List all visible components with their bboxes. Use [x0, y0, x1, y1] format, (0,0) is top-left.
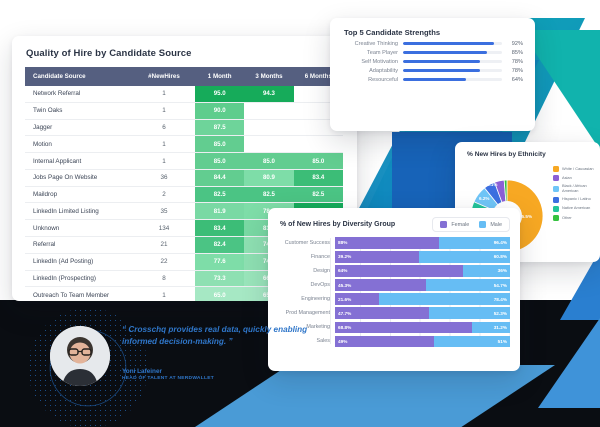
cell-source: Maildrop: [25, 186, 133, 203]
female-segment[interactable]: 64%: [335, 265, 463, 277]
cell-1-month: 87.5: [195, 119, 244, 136]
legend-item[interactable]: Female: [440, 221, 469, 228]
cell-source: Unknown: [25, 220, 133, 237]
cell-1-month: 81.9: [195, 203, 244, 220]
legend-swatch: [553, 186, 559, 192]
male-segment[interactable]: 60.8%: [419, 251, 510, 263]
cell-new-hires: 1: [133, 287, 195, 301]
legend-swatch: [553, 215, 559, 221]
cell-source: LinkedIn (Ad Posting): [25, 253, 133, 270]
legend-label: Asian: [562, 176, 600, 180]
col-new-hires[interactable]: #NewHires: [133, 67, 195, 86]
male-segment[interactable]: 78.4%: [379, 293, 510, 305]
female-value: 39.2%: [338, 254, 351, 259]
avatar: [50, 326, 110, 386]
cell-3-months: 80.9: [244, 169, 293, 186]
table-title: Quality of Hire by Candidate Source: [12, 36, 357, 67]
cell-3-months: 94.3: [244, 86, 293, 102]
strength-fill: [403, 60, 480, 64]
cell-3-months: 85.0: [244, 153, 293, 170]
cell-1-month: 73.3: [195, 270, 244, 287]
male-value: 60.8%: [494, 254, 507, 259]
legend-label: Female: [451, 222, 469, 228]
ethnicity-legend: White / CaucasianAsianBlack / African Am…: [553, 160, 600, 250]
cell-source: Jobs Page On Website: [25, 169, 133, 186]
female-segment[interactable]: 45.3%: [335, 279, 426, 291]
testimonial-quote: “ Crosschq provides real data, quickly e…: [122, 324, 322, 348]
female-segment[interactable]: 47.7%: [335, 307, 429, 319]
diversity-category: Engineering: [274, 296, 330, 302]
legend-label: White / Caucasian: [562, 167, 600, 171]
legend-swatch: [479, 221, 486, 228]
diversity-category: DevOps: [274, 282, 330, 288]
cell-new-hires: 1: [133, 153, 195, 170]
cell-new-hires: 1: [133, 136, 195, 153]
table-row[interactable]: Maildrop282.582.582.5: [25, 186, 343, 203]
diversity-row[interactable]: Engineering21.6%78.4%: [274, 293, 510, 305]
legend-item[interactable]: Male: [479, 221, 502, 228]
diversity-row[interactable]: Finance39.2%60.8%: [274, 251, 510, 263]
diversity-legend[interactable]: FemaleMale: [432, 217, 510, 232]
diversity-category: Design: [274, 268, 330, 274]
col-3-months[interactable]: 3 Months: [244, 67, 293, 86]
strength-track: [403, 51, 502, 55]
strength-track: [403, 69, 502, 73]
cell-1-month: 85.0: [195, 153, 244, 170]
cell-1-month: 82.4: [195, 237, 244, 254]
cell-new-hires: 1: [133, 102, 195, 119]
female-value: 45.3%: [338, 283, 351, 288]
male-value: 31.2%: [494, 325, 507, 330]
strength-percent: 85%: [507, 50, 523, 56]
female-value: 88%: [338, 240, 347, 245]
table-row[interactable]: Jobs Page On Website3684.480.983.4: [25, 169, 343, 186]
strength-label: Self Motivation: [340, 59, 398, 65]
stacked-bar: 88%96.4%: [335, 237, 510, 249]
male-segment[interactable]: 54.7%: [426, 279, 510, 291]
strength-row[interactable]: Creative Thinking92%: [330, 39, 535, 48]
cell-new-hires: 2: [133, 186, 195, 203]
testimonial-role: HEAD OF TALENT AT NERDWALLET: [122, 376, 214, 381]
avatar-portrait-icon: [50, 326, 110, 386]
female-segment[interactable]: 68.8%: [335, 322, 472, 334]
strength-label: Resourceful: [340, 77, 398, 83]
table-row[interactable]: Network Referral195.094.3: [25, 86, 343, 102]
cell-source: Motion: [25, 136, 133, 153]
strength-fill: [403, 42, 494, 46]
female-segment[interactable]: 21.6%: [335, 293, 379, 305]
stacked-bar: 47.7%52.3%: [335, 307, 510, 319]
strengths-title: Top 5 Candidate Strengths: [330, 18, 535, 39]
dashboard-collage: Quality of Hire by Candidate Source Cand…: [0, 0, 600, 427]
cell-6-months: 82.5: [294, 186, 343, 203]
legend-label: Black / African American: [562, 184, 600, 193]
cell-source: LinkedIn (Prospecting): [25, 270, 133, 287]
cell-new-hires: 6: [133, 119, 195, 136]
cell-1-month: 84.4: [195, 169, 244, 186]
top-strengths-card: Top 5 Candidate Strengths Creative Think…: [330, 18, 535, 131]
cell-new-hires: 21: [133, 237, 195, 254]
strength-track: [403, 42, 502, 46]
cell-6-months: 85.0: [294, 153, 343, 170]
diversity-row[interactable]: Design64%36%: [274, 265, 510, 277]
cell-new-hires: 36: [133, 169, 195, 186]
diversity-category: Finance: [274, 254, 330, 260]
male-value: 78.4%: [494, 297, 507, 302]
donut-slice-label: 6.2%: [479, 196, 489, 201]
strength-label: Team Player: [340, 50, 398, 56]
strength-row[interactable]: Team Player85%: [330, 48, 535, 57]
strength-fill: [403, 51, 487, 55]
stacked-bar: 39.2%60.8%: [335, 251, 510, 263]
cell-new-hires: 22: [133, 253, 195, 270]
cell-6-months: [294, 136, 343, 153]
legend-swatch: [553, 197, 559, 203]
table-row[interactable]: Twin Oaks190.0: [25, 102, 343, 119]
legend-item[interactable]: Native American: [553, 206, 600, 212]
diversity-row[interactable]: Customer Success88%96.4%: [274, 237, 510, 249]
male-segment[interactable]: 51%: [434, 336, 510, 348]
cell-1-month: 90.0: [195, 102, 244, 119]
cell-new-hires: 1: [133, 86, 195, 102]
cell-1-month: 85.0: [195, 136, 244, 153]
female-segment[interactable]: 39.2%: [335, 251, 419, 263]
legend-swatch: [553, 175, 559, 181]
male-value: 36%: [498, 268, 507, 273]
cell-source: Jagger: [25, 119, 133, 136]
strength-percent: 92%: [507, 41, 523, 47]
donut-slice-label: 45.5%: [519, 214, 532, 219]
legend-label: Male: [490, 222, 502, 228]
cell-1-month: 77.6: [195, 253, 244, 270]
strength-row[interactable]: Resourceful64%: [330, 75, 535, 84]
strength-row[interactable]: Self Motivation78%: [330, 57, 535, 66]
stacked-bar: 21.6%78.4%: [335, 293, 510, 305]
legend-item[interactable]: Other: [553, 215, 600, 221]
strength-fill: [403, 78, 466, 82]
ethnicity-title: % New Hires by Ethnicity: [455, 142, 600, 158]
cell-3-months: [244, 102, 293, 119]
strength-percent: 78%: [507, 68, 523, 74]
legend-item[interactable]: White / Caucasian: [553, 166, 600, 172]
male-value: 51%: [498, 339, 507, 344]
cell-3-months: [244, 119, 293, 136]
diversity-row[interactable]: DevOps45.3%54.7%: [274, 279, 510, 291]
legend-label: Other: [562, 216, 600, 220]
male-segment[interactable]: 36%: [463, 265, 510, 277]
diversity-title: % of New Hires by Diversity Group: [280, 221, 395, 228]
cell-new-hires: 134: [133, 220, 195, 237]
strength-fill: [403, 69, 480, 73]
strength-track: [403, 60, 502, 64]
cell-source: Network Referral: [25, 86, 133, 102]
cell-source: Twin Oaks: [25, 102, 133, 119]
cell-source: Referral: [25, 237, 133, 254]
legend-swatch: [440, 221, 447, 228]
col-candidate-source[interactable]: Candidate Source: [25, 67, 133, 86]
donut-slice-label: 4.1%: [487, 182, 497, 187]
strength-track: [403, 78, 502, 82]
female-value: 68.8%: [338, 325, 351, 330]
donut-slice-label: 19.7%: [507, 174, 520, 179]
male-segment[interactable]: 52.3%: [429, 307, 510, 319]
strengths-list: Creative Thinking92%Team Player85%Self M…: [330, 39, 535, 84]
legend-item[interactable]: Asian: [553, 175, 600, 181]
stacked-bar: 49%51%: [335, 336, 510, 348]
table-row[interactable]: Jagger687.5: [25, 119, 343, 136]
legend-label: Native American: [562, 206, 600, 210]
strength-percent: 64%: [507, 77, 523, 83]
female-segment[interactable]: 88%: [335, 237, 439, 249]
testimonial: “ Crosschq provides real data, quickly e…: [30, 310, 330, 400]
male-segment[interactable]: 96.4%: [439, 237, 510, 249]
diversity-category: Customer Success: [274, 240, 330, 246]
legend-item[interactable]: Black / African American: [553, 184, 600, 193]
cell-1-month: 83.4: [195, 220, 244, 237]
cell-3-months: [244, 136, 293, 153]
male-value: 54.7%: [494, 283, 507, 288]
female-value: 47.7%: [338, 311, 351, 316]
strength-percent: 78%: [507, 59, 523, 65]
cell-1-month: 82.5: [195, 186, 244, 203]
cell-3-months: 82.5: [244, 186, 293, 203]
col-1-month[interactable]: 1 Month: [195, 67, 244, 86]
cell-source: LinkedIn Limited Listing: [25, 203, 133, 220]
cell-new-hires: 35: [133, 203, 195, 220]
cell-new-hires: 8: [133, 270, 195, 287]
stacked-bar: 68.8%31.2%: [335, 322, 510, 334]
table-header-row: Candidate Source #NewHires 1 Month 3 Mon…: [25, 67, 343, 86]
stacked-bar: 45.3%54.7%: [335, 279, 510, 291]
strength-label: Adaptability: [340, 68, 398, 74]
cell-1-month: 95.0: [195, 86, 244, 102]
table-row[interactable]: Motion185.0: [25, 136, 343, 153]
stacked-bar: 64%36%: [335, 265, 510, 277]
cell-1-month: 65.0: [195, 287, 244, 301]
table-row[interactable]: Internal Applicant185.085.085.0: [25, 153, 343, 170]
legend-label: Hispanic / Latino: [562, 197, 600, 201]
male-segment[interactable]: 31.2%: [472, 322, 510, 334]
testimonial-name: Yoni Lafeiner: [122, 368, 162, 375]
cell-source: Outreach To Team Member: [25, 287, 133, 301]
legend-swatch: [553, 166, 559, 172]
male-value: 52.3%: [494, 311, 507, 316]
cell-6-months: 83.4: [294, 169, 343, 186]
female-value: 21.6%: [338, 297, 351, 302]
female-segment[interactable]: 49%: [335, 336, 434, 348]
female-value: 49%: [338, 339, 347, 344]
strength-row[interactable]: Adaptability78%: [330, 66, 535, 75]
female-value: 64%: [338, 268, 347, 273]
strength-label: Creative Thinking: [340, 41, 398, 47]
legend-swatch: [553, 206, 559, 212]
legend-item[interactable]: Hispanic / Latino: [553, 197, 600, 203]
male-value: 96.4%: [494, 240, 507, 245]
cell-source: Internal Applicant: [25, 153, 133, 170]
